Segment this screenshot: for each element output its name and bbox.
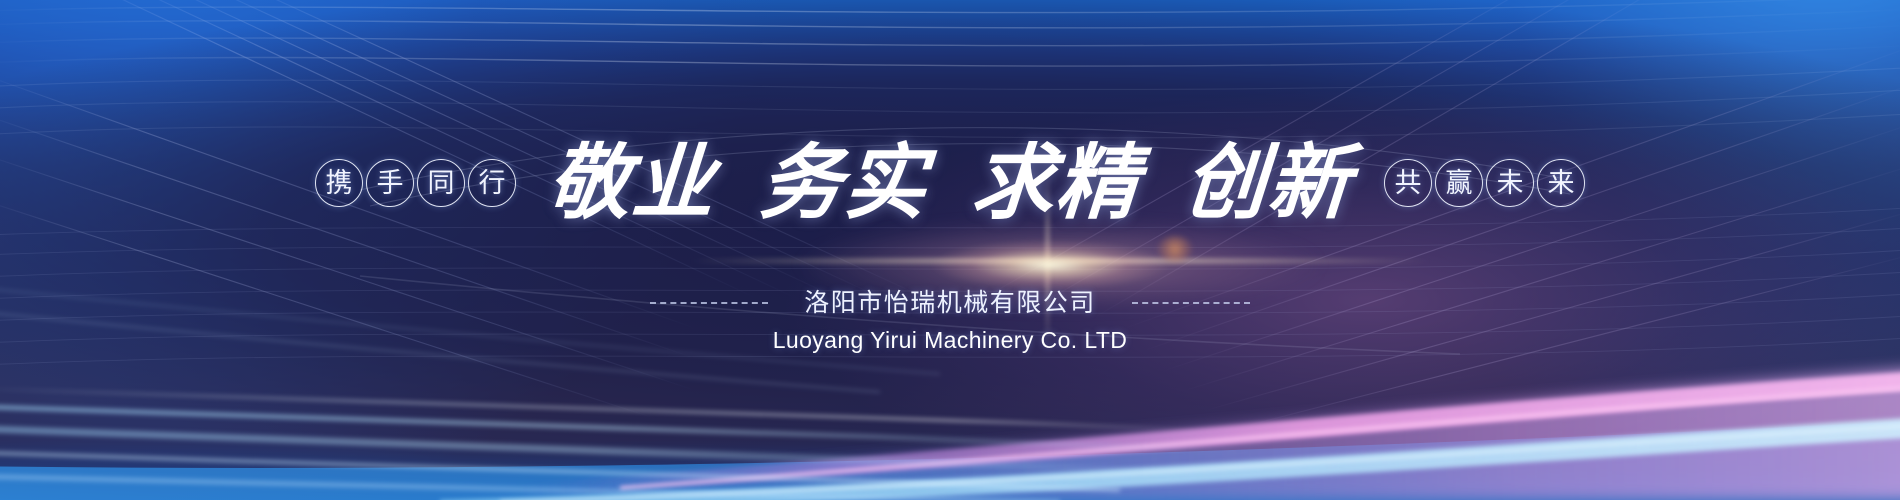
slogan-calligraphy: 敬业 务实 求精 创新 — [548, 142, 1352, 224]
circled-char: 携 — [315, 159, 363, 207]
circled-char: 来 — [1537, 159, 1585, 207]
circled-char: 同 — [417, 159, 465, 207]
promotional-banner: 携 手 同 行 敬业 务实 求精 创新 共 赢 未 来 洛阳市怡瑞机械有限公司 — [0, 0, 1900, 500]
slogan-word: 创新 — [1181, 142, 1355, 224]
banner-content: 携 手 同 行 敬业 务实 求精 创新 共 赢 未 来 洛阳市怡瑞机械有限公司 — [0, 0, 1900, 500]
circled-char: 行 — [468, 159, 516, 207]
circled-char: 共 — [1384, 159, 1432, 207]
company-identity-block: 洛阳市怡瑞机械有限公司 Luoyang Yirui Machinery Co. … — [0, 288, 1900, 355]
slogan-word: 敬业 — [545, 142, 719, 224]
divider-dashed-left — [650, 302, 768, 304]
circled-char: 赢 — [1435, 159, 1483, 207]
company-name-row: 洛阳市怡瑞机械有限公司 — [0, 288, 1900, 318]
company-name-cn: 洛阳市怡瑞机械有限公司 — [804, 288, 1096, 318]
circled-char: 手 — [366, 159, 414, 207]
right-circled-phrase: 共 赢 未 来 — [1384, 159, 1585, 207]
left-circled-phrase: 携 手 同 行 — [315, 159, 516, 207]
slogan-word: 务实 — [757, 142, 931, 224]
headline-row: 携 手 同 行 敬业 务实 求精 创新 共 赢 未 来 — [0, 128, 1900, 238]
divider-dashed-right — [1132, 302, 1250, 304]
company-name-en: Luoyang Yirui Machinery Co. LTD — [773, 325, 1128, 355]
circled-char: 未 — [1486, 159, 1534, 207]
slogan-word: 求精 — [969, 142, 1143, 224]
